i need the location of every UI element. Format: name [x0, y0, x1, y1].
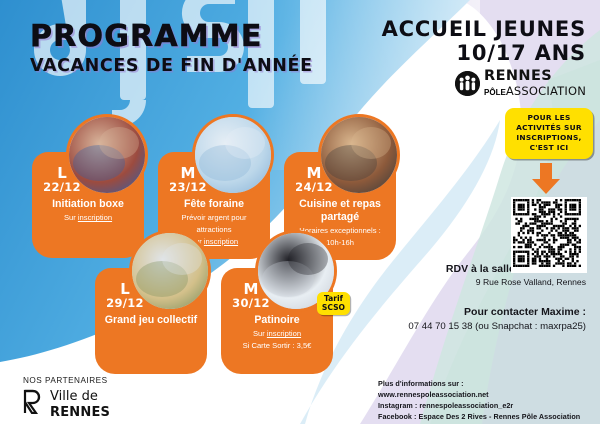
card-date: L22/12: [38, 166, 86, 194]
callout-line-1: POUR LES: [509, 113, 589, 123]
card-day-date: 24/12: [290, 181, 338, 194]
card-day-letter: M: [290, 166, 338, 181]
more-info-block: Plus d'informations sur : www.rennespole…: [378, 378, 580, 423]
poster-title-block: PROGRAMME VACANCES DE FIN D'ANNÉE: [30, 22, 313, 76]
qr-code[interactable]: [511, 197, 587, 273]
card-title: Fête foraine: [165, 198, 263, 211]
rennes-pole-association-logo: RENNES PÔLEASSOCIATION: [382, 69, 586, 98]
card-date: L29/12: [101, 282, 149, 310]
page-title: PROGRAMME: [30, 22, 313, 52]
card-day-letter: M: [227, 282, 275, 297]
down-arrow-icon: [529, 163, 563, 200]
card-date: M24/12: [290, 166, 338, 194]
card-day-date: 29/12: [101, 297, 149, 310]
card-day-date: 22/12: [38, 181, 86, 194]
card-day-letter: M: [164, 166, 212, 181]
rennes-crest-icon: [23, 388, 45, 419]
card-date: M30/12: [227, 282, 275, 310]
callout-line-4: C'EST ICI: [509, 143, 589, 153]
people-circle-icon: [455, 71, 480, 96]
card-title: Cuisine et repas partagé: [291, 198, 389, 224]
city-logo-line-2: RENNES: [50, 405, 110, 420]
header-line-1: ACCUEIL JEUNES: [382, 18, 586, 41]
header-line-2: 10/17 ANS: [382, 41, 586, 65]
header-right: ACCUEIL JEUNES 10/17 ANS RENNES PÔLEASSO…: [382, 18, 586, 98]
city-logo-line-1: Ville de: [50, 389, 98, 404]
website-link[interactable]: www.rennespoleassociation.net: [378, 389, 580, 400]
card-note: Sur inscription: [39, 213, 137, 223]
facebook-page[interactable]: Facebook : Espace Des 2 Rives - Rennes P…: [378, 411, 580, 422]
activity-card[interactable]: L29/12Grand jeu collectif: [95, 268, 207, 374]
logo-rennes-text: RENNES: [484, 68, 552, 84]
card-title: Grand jeu collectif: [102, 314, 200, 327]
card-date: M23/12: [164, 166, 212, 194]
logo-association-text: ASSOCIATION: [506, 84, 586, 98]
activity-card[interactable]: M30/12PatinoireSur inscriptionSi Carte S…: [221, 268, 333, 374]
contact-label: Pour contacter Maxime :: [341, 305, 586, 320]
card-title: Patinoire: [228, 314, 326, 327]
activity-card[interactable]: L22/12Initiation boxeSur inscription: [32, 152, 144, 258]
registration-callout: POUR LES ACTIVITÉS SUR INSCRIPTIONS, C'E…: [505, 108, 593, 159]
card-day-letter: L: [38, 166, 86, 181]
callout-line-2: ACTIVITÉS SUR: [509, 123, 589, 133]
poster-root: PROGRAMME VACANCES DE FIN D'ANNÉE ACCUEI…: [0, 0, 600, 424]
partners-block: NOS PARTENAIRES Ville de RENNES: [23, 376, 110, 419]
card-day-date: 23/12: [164, 181, 212, 194]
meeting-address: 9 Rue Rose Valland, Rennes: [356, 276, 586, 288]
page-subtitle: VACANCES DE FIN D'ANNÉE: [30, 58, 313, 76]
card-day-date: 30/12: [227, 297, 275, 310]
card-note: Sur inscription: [228, 329, 326, 339]
card-title: Initiation boxe: [39, 198, 137, 211]
card-day-letter: L: [101, 282, 149, 297]
contact-info: Pour contacter Maxime : 07 44 70 15 38 (…: [341, 305, 586, 334]
card-note: Si Carte Sortir : 3,5€: [228, 341, 326, 351]
callout-line-3: INSCRIPTIONS,: [509, 133, 589, 143]
partners-label: NOS PARTENAIRES: [23, 376, 110, 385]
more-info-label: Plus d'informations sur :: [378, 378, 580, 389]
logo-pole-text: PÔLE: [484, 88, 506, 97]
contact-phone: 07 44 70 15 38 (ou Snapchat : maxrpa25): [341, 320, 586, 334]
instagram-handle[interactable]: Instagram : rennespoleassociation_e2r: [378, 400, 580, 411]
ville-de-rennes-logo: Ville de RENNES: [23, 388, 110, 419]
card-note: Prévoir argent pour: [165, 213, 263, 223]
